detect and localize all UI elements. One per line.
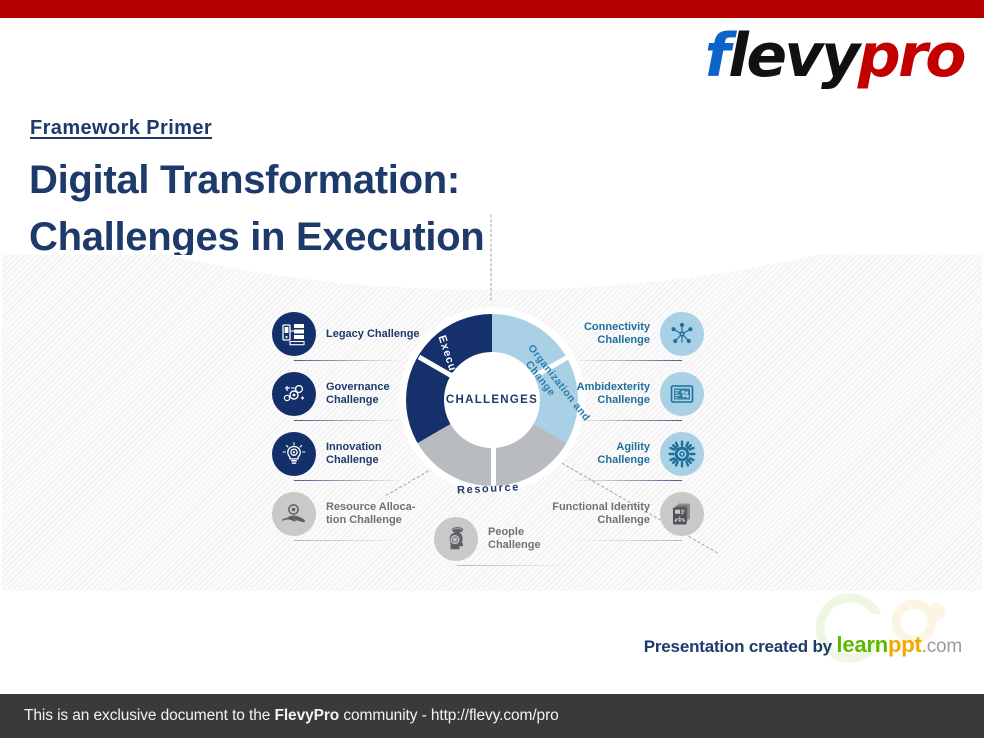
item-agility-challenge[interactable]: Agility Challenge [597,432,704,476]
network-hub-icon [669,321,695,347]
footer-text-brand: FlevyPro [274,707,339,724]
resource-allocation-label-line-1: Resource Alloca- [326,501,415,513]
rule-legacy [294,360,404,361]
rule-resource-allocation [294,540,404,541]
rule-functional-identity [572,540,682,541]
innovation-challenge-bubble [272,432,316,476]
documents-icon [669,501,695,527]
innovation-label-line-1: Innovation [326,441,382,453]
functional-identity-label-line-2: Challenge [597,514,650,526]
challenges-diagram: CHALLENGES Execution Organization and Ch… [2,255,982,591]
item-ambidexterity-challenge[interactable]: Ambidexterity Challenge [577,372,704,416]
credit-brand-ppt: ppt [888,632,922,657]
credit-brand-tld: .com [922,636,962,657]
resource-allocation-label: Resource Alloca- tion Challenge [326,501,415,527]
item-functional-identity-challenge[interactable]: Functional Identity Challenge [552,492,704,536]
footer-text-after: community - http://flevy.com/pro [339,707,559,724]
rule-innovation [294,480,404,481]
agility-challenge-bubble [660,432,704,476]
agility-challenge-label: Agility Challenge [597,441,650,467]
gear-sun-icon [668,440,696,468]
donut-center-label-wrap: CHALLENGES [406,314,578,486]
rule-connectivity [572,360,682,361]
functional-identity-label: Functional Identity Challenge [552,501,650,527]
item-connectivity-challenge[interactable]: Connectivity Challenge [584,312,704,356]
rule-agility [572,480,682,481]
footer-bar: This is an exclusive document to the Fle… [0,694,984,738]
footer-text-before: This is an exclusive document to the [24,707,274,724]
rule-ambidexterity [572,420,682,421]
head-brain-icon [443,526,469,552]
governance-challenge-bubble [272,372,316,416]
innovation-challenge-label: Innovation Challenge [326,441,382,467]
ambidexterity-challenge-label: Ambidexterity Challenge [577,381,650,407]
server-device-icon [281,321,307,347]
governance-challenge-label: Governance Challenge [326,381,390,407]
item-people-challenge[interactable]: People Challenge [434,517,541,561]
people-challenge-bubble [434,517,478,561]
governance-label-line-2: Challenge [326,394,379,406]
functional-identity-label-line-1: Functional Identity [552,501,650,513]
people-label-line-1: People [488,526,524,538]
rule-people [457,565,577,566]
divider-dashed-up [491,215,492,301]
legacy-challenge-bubble [272,312,316,356]
item-resource-allocation-challenge[interactable]: Resource Alloca- tion Challenge [272,492,415,536]
agility-label-line-1: Agility [616,441,650,453]
page-title: Digital Transformation: Challenges in Ex… [29,152,729,266]
connectivity-label-line-1: Connectivity [584,321,650,333]
flevypro-logo: flevypro [705,26,964,86]
ambidexterity-label-line-2: Challenge [597,394,650,406]
resource-allocation-bubble [272,492,316,536]
ambidexterity-label-line-1: Ambidexterity [577,381,650,393]
connectivity-challenge-label: Connectivity Challenge [584,321,650,347]
item-governance-challenge[interactable]: Governance Challenge [272,372,390,416]
footer-text: This is an exclusive document to the Fle… [24,707,559,725]
governance-label-line-1: Governance [326,381,390,393]
connectivity-label-line-2: Challenge [597,334,650,346]
slide-canvas: flevypro Framework Primer Digital Transf… [0,0,984,738]
people-challenge-label: People Challenge [488,526,541,552]
item-innovation-challenge[interactable]: Innovation Challenge [272,432,382,476]
credit-brand-learn: learn [836,632,888,657]
resource-allocation-label-line-2: tion Challenge [326,514,402,526]
logo-part-pro: pro [858,21,964,91]
item-legacy-challenge[interactable]: Legacy Challenge [272,312,420,356]
credit-prefix: Presentation created by [644,637,837,656]
innovation-label-line-2: Challenge [326,454,379,466]
gears-network-icon [281,381,307,407]
logo-part-levy: levy [728,21,857,91]
logo-part-f: f [705,21,729,91]
lightbulb-gear-icon [281,441,307,467]
hand-coin-icon [281,501,307,527]
presentation-credit: Presentation created by learnppt.com [644,632,962,658]
agility-label-line-2: Challenge [597,454,650,466]
functional-identity-bubble [660,492,704,536]
dashboard-screen-icon [669,381,695,407]
rule-governance [294,420,404,421]
ambidexterity-challenge-bubble [660,372,704,416]
top-red-bar [0,0,984,18]
people-label-line-2: Challenge [488,539,541,551]
eyebrow-label: Framework Primer [30,117,212,140]
page-title-line-1: Digital Transformation: [29,158,460,202]
connectivity-challenge-bubble [660,312,704,356]
donut-center-label: CHALLENGES [446,394,538,406]
legacy-challenge-label: Legacy Challenge [326,328,420,341]
